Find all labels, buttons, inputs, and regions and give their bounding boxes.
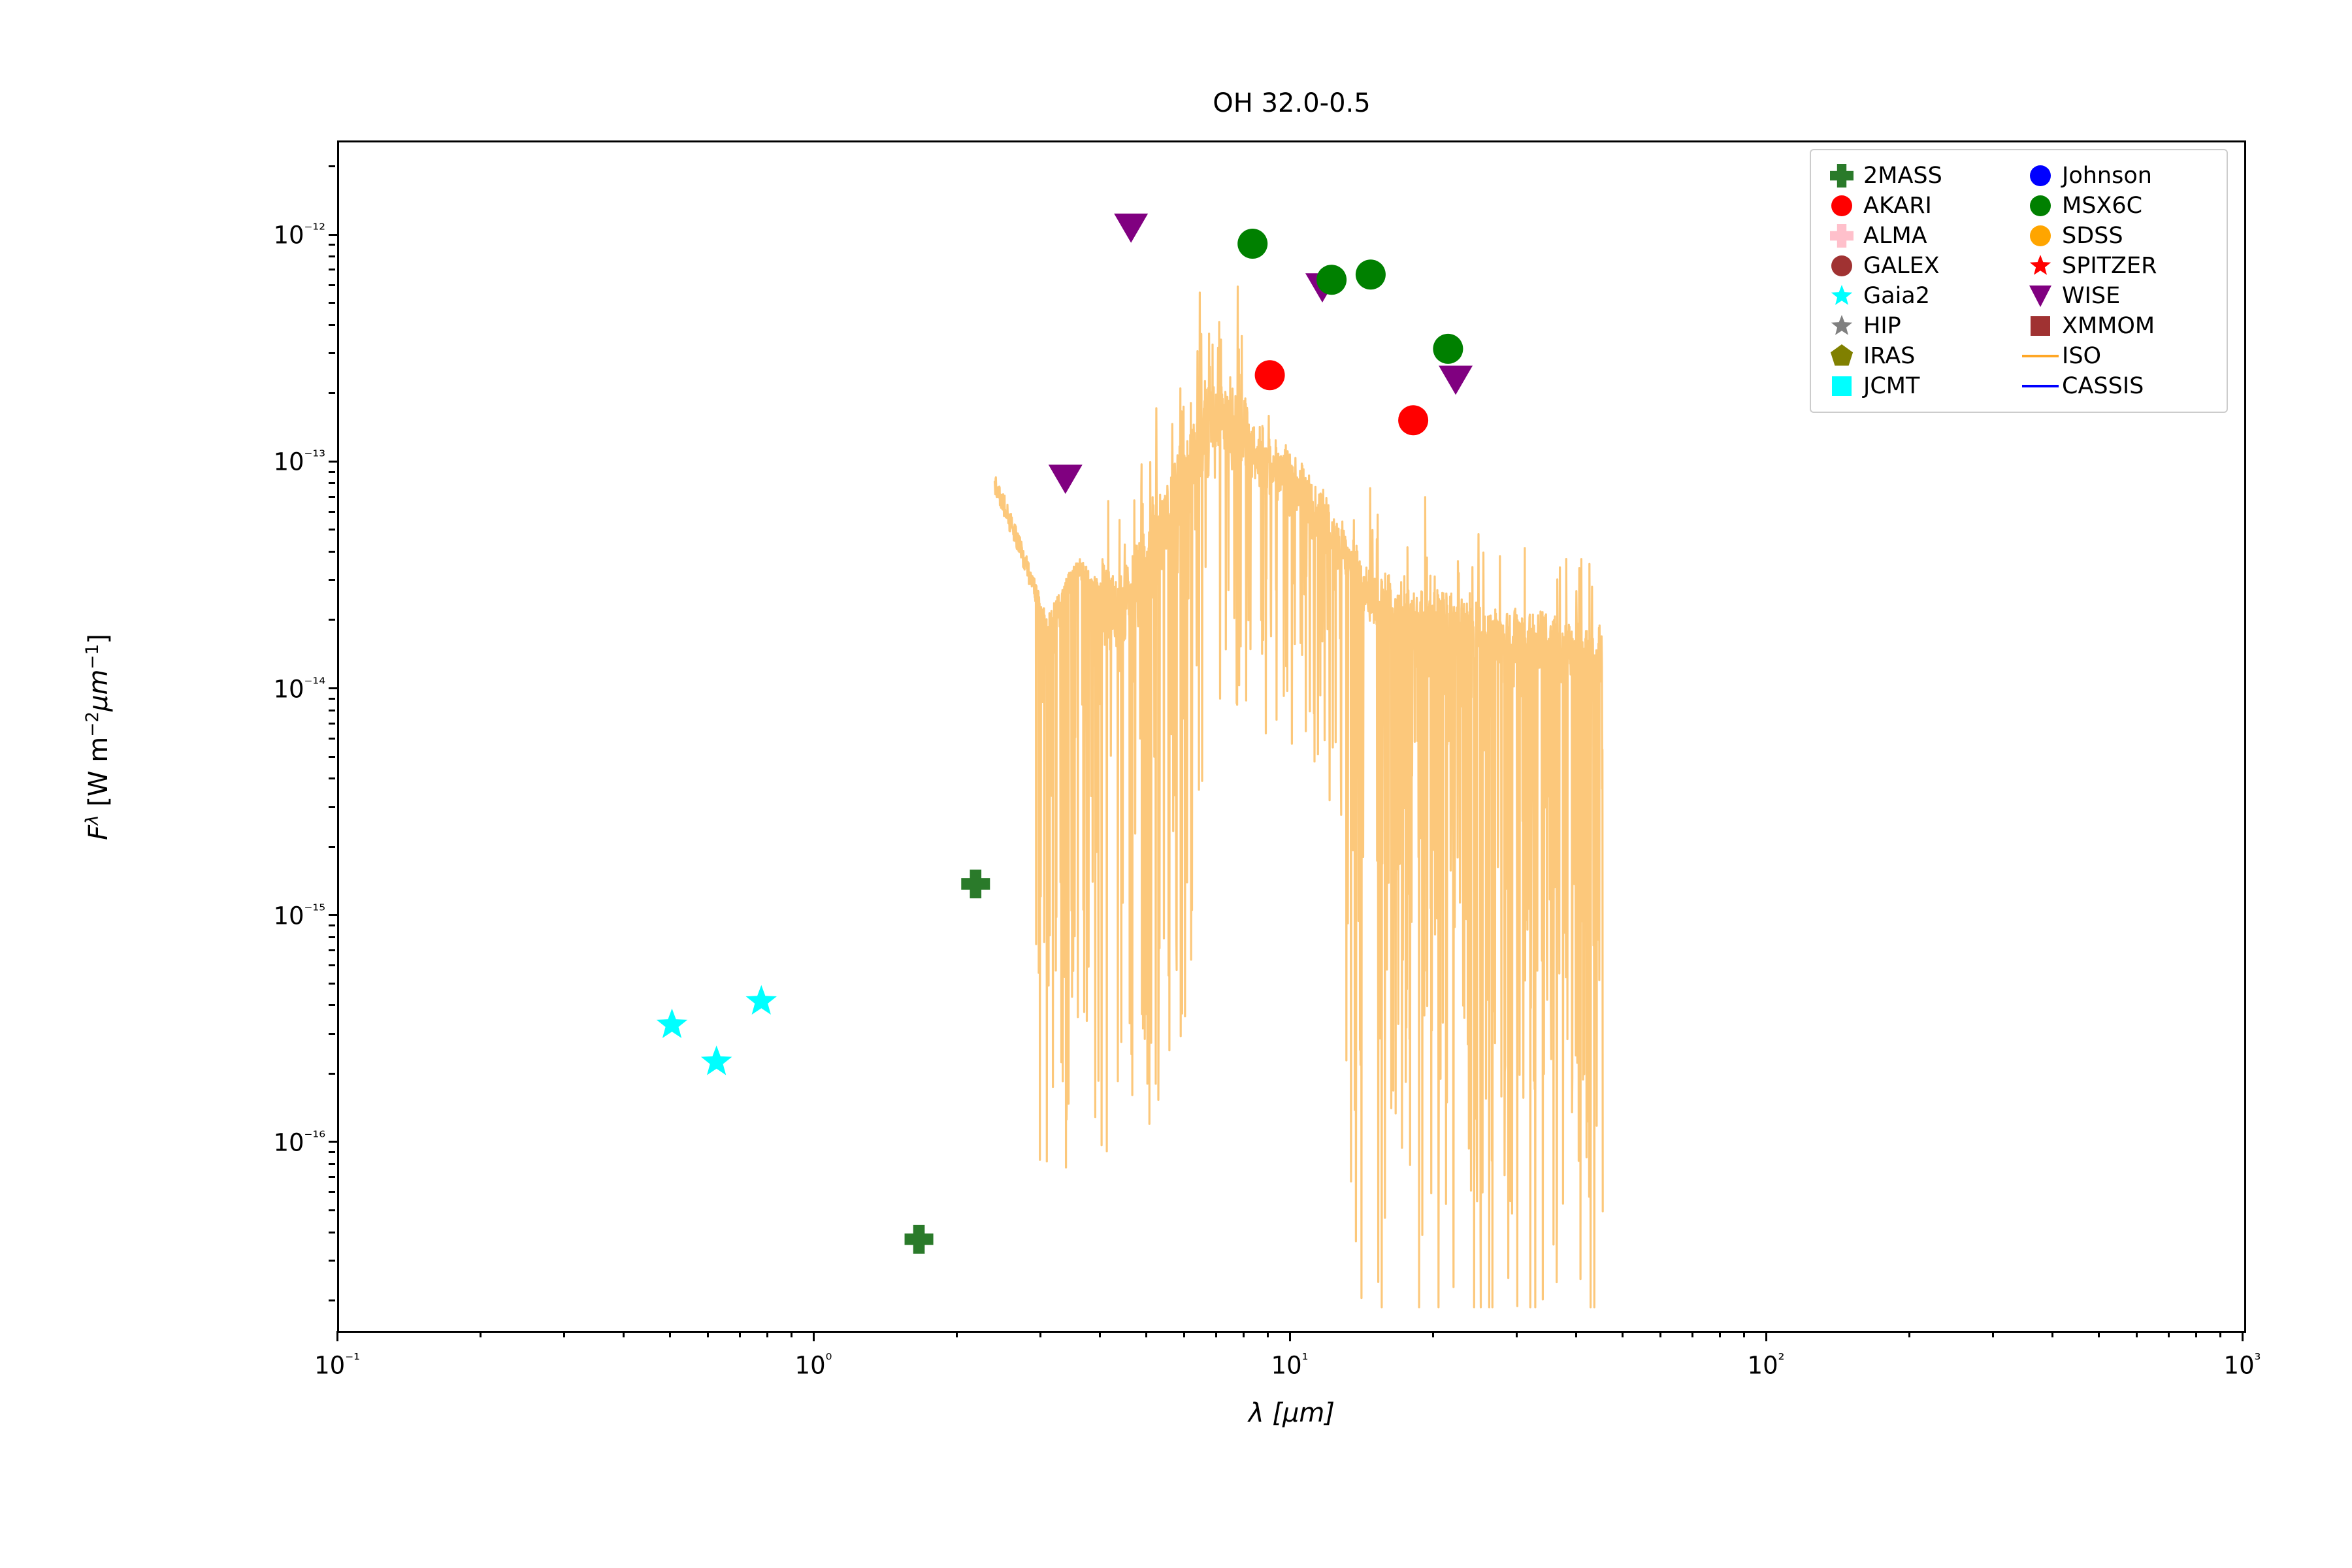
circle-icon xyxy=(1820,191,1863,220)
y-tick-minor xyxy=(329,756,335,758)
y-tick-minor xyxy=(329,924,335,926)
x-tick-minor xyxy=(623,1331,625,1337)
line-icon xyxy=(2019,355,2062,357)
y-tick-minor xyxy=(329,269,335,270)
data-point-2mass xyxy=(905,1225,934,1254)
y-tick-minor xyxy=(329,619,335,621)
y-tick-label: 10⁻¹² xyxy=(174,220,325,249)
legend-item-label: ISO xyxy=(2062,343,2101,369)
y-tick-minor xyxy=(329,324,335,326)
y-tick-minor xyxy=(329,551,335,553)
x-tick-minor xyxy=(2051,1331,2053,1337)
legend-item-xmmom[interactable]: XMMOM xyxy=(2019,311,2217,341)
x-tick-minor xyxy=(1145,1331,1147,1337)
data-point-akari xyxy=(1255,360,1285,390)
x-tick-minor xyxy=(791,1331,792,1337)
legend-item-label: XMMOM xyxy=(2062,313,2155,339)
x-tick-minor xyxy=(956,1331,958,1337)
figure-canvas: OH 32.0-0.5 10⁻¹10⁰10¹10²10³10⁻¹⁶10⁻¹⁵10… xyxy=(0,0,2352,1568)
legend-item-label: SDSS xyxy=(2062,223,2123,249)
y-tick-minor xyxy=(329,846,335,848)
y-tick-minor xyxy=(329,392,335,394)
legend-item-label: 2MASS xyxy=(1863,163,1942,189)
x-tick-label: 10² xyxy=(1748,1350,1785,1379)
y-tick-minor xyxy=(329,1004,335,1006)
y-tick-minor xyxy=(329,529,335,531)
y-tick-minor xyxy=(329,723,335,725)
y-tick-minor xyxy=(329,579,335,581)
x-axis-label: λ [μm] xyxy=(337,1398,2246,1428)
x-tick-minor xyxy=(2195,1331,2197,1337)
star-icon xyxy=(2019,252,2062,280)
x-tick-label: 10⁻¹ xyxy=(314,1350,360,1379)
data-point-gaia2 xyxy=(746,985,777,1015)
y-tick-minor xyxy=(329,1163,335,1165)
x-tick-minor xyxy=(1743,1331,1745,1337)
x-tick-major xyxy=(2242,1331,2244,1341)
x-tick-major xyxy=(1289,1331,1291,1341)
star-icon xyxy=(1820,312,1863,340)
y-tick-minor xyxy=(329,983,335,985)
legend-item-label: IRAS xyxy=(1863,343,1915,369)
legend-item-label: GALEX xyxy=(1863,253,1940,279)
legend-item-johnson[interactable]: Johnson xyxy=(2019,161,2217,191)
y-tick-minor xyxy=(329,698,335,700)
x-tick-minor xyxy=(1575,1331,1577,1337)
page-title: OH 32.0-0.5 xyxy=(337,90,2246,116)
x-tick-minor xyxy=(1659,1331,1661,1337)
y-tick-minor xyxy=(329,964,335,966)
x-tick-minor xyxy=(563,1331,565,1337)
y-tick-minor xyxy=(329,1299,335,1301)
legend-item-label: HIP xyxy=(1863,313,1901,339)
x-tick-minor xyxy=(480,1331,482,1337)
legend-item-sdss[interactable]: SDSS xyxy=(2019,221,2217,251)
x-tick-minor xyxy=(707,1331,709,1337)
legend-item-label: ALMA xyxy=(1863,223,1927,249)
y-tick-minor xyxy=(329,949,335,951)
square-icon xyxy=(1820,372,1863,400)
x-tick-label: 10³ xyxy=(2224,1350,2261,1379)
iso-spectrum-line xyxy=(995,287,1603,1307)
plus-icon xyxy=(1820,221,1863,250)
legend-item-gaia2[interactable]: Gaia2 xyxy=(1820,281,2019,311)
line-swatch xyxy=(2022,355,2059,357)
line-swatch xyxy=(2022,385,2059,387)
x-tick-minor xyxy=(1432,1331,1434,1337)
data-point-gaia2 xyxy=(701,1045,732,1075)
y-tick-minor xyxy=(329,511,335,513)
star-icon xyxy=(1820,282,1863,310)
y-tick-minor xyxy=(329,1209,335,1211)
x-tick-minor xyxy=(1992,1331,1994,1337)
x-tick-label: 10⁰ xyxy=(795,1350,832,1379)
y-tick-minor xyxy=(329,806,335,808)
circle-icon xyxy=(2019,191,2062,220)
data-point-wise xyxy=(1049,465,1083,494)
data-point-wise xyxy=(1439,366,1473,395)
y-tick-label: 10⁻¹³ xyxy=(174,447,325,476)
legend-item-alma[interactable]: ALMA xyxy=(1820,221,2019,251)
legend-item-hip[interactable]: HIP xyxy=(1820,311,2019,341)
legend-item-spitzer[interactable]: SPITZER xyxy=(2019,251,2217,281)
x-tick-minor xyxy=(1215,1331,1217,1337)
x-tick-minor xyxy=(1183,1331,1185,1337)
y-tick-minor xyxy=(329,1191,335,1193)
legend-item-2mass[interactable]: 2MASS xyxy=(1820,161,2019,191)
legend-item-label: Johnson xyxy=(2062,163,2152,189)
y-tick-minor xyxy=(329,1151,335,1153)
x-tick-minor xyxy=(1267,1331,1269,1337)
legend-item-wise[interactable]: WISE xyxy=(2019,281,2217,311)
y-tick-minor xyxy=(329,1073,335,1075)
y-tick-minor xyxy=(329,1176,335,1178)
legend-item-cassis[interactable]: CASSIS xyxy=(2019,371,2217,401)
circle-icon xyxy=(2019,161,2062,190)
legend-item-label: Gaia2 xyxy=(1863,283,1930,309)
x-tick-label: 10¹ xyxy=(1271,1350,1309,1379)
data-point-msx6c xyxy=(1316,265,1347,295)
x-tick-minor xyxy=(1719,1331,1721,1337)
y-tick-minor xyxy=(329,165,335,167)
x-tick-major xyxy=(1765,1331,1767,1341)
y-tick-label: 10⁻¹⁴ xyxy=(174,674,325,703)
y-tick-minor xyxy=(329,284,335,286)
pentagon-icon xyxy=(1820,342,1863,370)
y-tick-major xyxy=(329,687,339,689)
legend[interactable]: 2MASSAKARIALMAGALEXGaia2HIPIRASJCMT John… xyxy=(1810,149,2228,413)
y-tick-minor xyxy=(329,302,335,304)
y-tick-major xyxy=(329,234,339,236)
y-tick-label: 10⁻¹⁶ xyxy=(174,1127,325,1156)
y-tick-minor xyxy=(329,255,335,257)
data-point-msx6c xyxy=(1356,259,1386,289)
x-tick-minor xyxy=(1622,1331,1624,1337)
legend-column-right: JohnsonMSX6CSDSSSPITZERWISEXMMOMISOCASSI… xyxy=(2019,161,2217,401)
x-tick-minor xyxy=(2098,1331,2100,1337)
data-point-akari xyxy=(1398,405,1428,435)
circle-icon xyxy=(1820,252,1863,280)
y-tick-minor xyxy=(329,482,335,484)
x-tick-minor xyxy=(1099,1331,1101,1337)
x-tick-minor xyxy=(669,1331,671,1337)
x-tick-minor xyxy=(2136,1331,2138,1337)
legend-item-label: WISE xyxy=(2062,283,2120,309)
x-tick-major xyxy=(336,1331,338,1341)
legend-item-label: CASSIS xyxy=(2062,373,2144,399)
x-tick-minor xyxy=(739,1331,741,1337)
y-tick-minor xyxy=(329,1033,335,1035)
legend-item-akari[interactable]: AKARI xyxy=(1820,191,2019,221)
data-point-gaia2 xyxy=(657,1009,688,1038)
y-tick-minor xyxy=(329,1232,335,1233)
data-point-msx6c xyxy=(1433,334,1463,364)
y-tick-minor xyxy=(329,496,335,498)
y-tick-major xyxy=(329,914,339,916)
y-tick-minor xyxy=(329,244,335,246)
circle-icon xyxy=(2019,221,2062,250)
x-tick-minor xyxy=(1691,1331,1693,1337)
x-tick-minor xyxy=(2168,1331,2170,1337)
legend-item-galex[interactable]: GALEX xyxy=(1820,251,2019,281)
legend-item-label: SPITZER xyxy=(2062,253,2157,279)
y-tick-major xyxy=(329,461,339,463)
legend-item-label: JCMT xyxy=(1863,373,1919,399)
y-tick-minor xyxy=(329,738,335,740)
legend-item-jcmt[interactable]: JCMT xyxy=(1820,371,2019,401)
y-tick-label: 10⁻¹⁵ xyxy=(174,900,325,930)
data-point-msx6c xyxy=(1237,229,1267,259)
y-tick-major xyxy=(329,1141,339,1143)
y-tick-minor xyxy=(329,1260,335,1262)
legend-item-iras[interactable]: IRAS xyxy=(1820,341,2019,371)
triangle_down-icon xyxy=(2019,282,2062,310)
legend-item-label: MSX6C xyxy=(2062,193,2142,219)
x-tick-minor xyxy=(1243,1331,1245,1337)
x-tick-minor xyxy=(766,1331,768,1337)
line-icon xyxy=(2019,385,2062,387)
legend-item-label: AKARI xyxy=(1863,193,1932,219)
x-tick-minor xyxy=(1039,1331,1041,1337)
x-tick-minor xyxy=(1908,1331,1910,1337)
legend-item-msx6c[interactable]: MSX6C xyxy=(2019,191,2217,221)
y-tick-minor xyxy=(329,777,335,779)
y-tick-minor xyxy=(329,936,335,938)
x-tick-major xyxy=(813,1331,815,1341)
legend-item-iso[interactable]: ISO xyxy=(2019,341,2217,371)
plus-icon xyxy=(1820,161,1863,190)
y-tick-minor xyxy=(329,352,335,354)
legend-column-left: 2MASSAKARIALMAGALEXGaia2HIPIRASJCMT xyxy=(1820,161,2019,401)
x-tick-minor xyxy=(2219,1331,2221,1337)
data-point-wise xyxy=(1114,214,1148,243)
y-tick-minor xyxy=(329,471,335,473)
square-icon xyxy=(2019,312,2062,340)
x-tick-minor xyxy=(1516,1331,1518,1337)
data-point-2mass xyxy=(961,870,990,898)
y-axis-label: Fλ [W m−2μm−1] xyxy=(82,634,114,840)
y-tick-minor xyxy=(329,710,335,711)
